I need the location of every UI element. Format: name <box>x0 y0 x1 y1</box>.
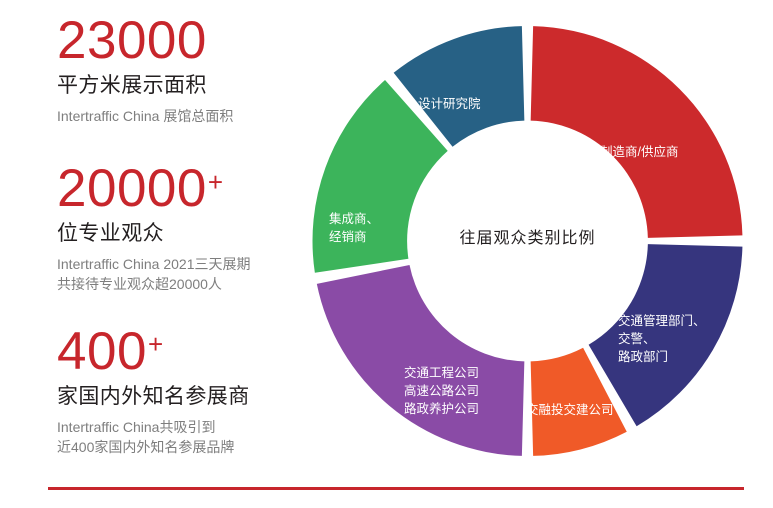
stat-number-plus: + <box>148 329 164 359</box>
donut-slice <box>317 265 525 456</box>
stat-number-plus: + <box>208 167 224 197</box>
donut-center-label: 往届观众类别比例 <box>300 224 755 248</box>
stat-number-value: 400 <box>57 322 147 381</box>
bottom-divider-rule <box>48 487 744 490</box>
donut-chart: 往届观众类别比例 制造商/供应商 交通管理部门、 交警、 路政部门 交融投交建公… <box>300 12 755 470</box>
donut-slice <box>531 26 743 238</box>
stat-number-value: 23000 <box>57 11 207 70</box>
stat-number-value: 20000 <box>57 159 207 218</box>
donut-slice <box>589 244 743 426</box>
